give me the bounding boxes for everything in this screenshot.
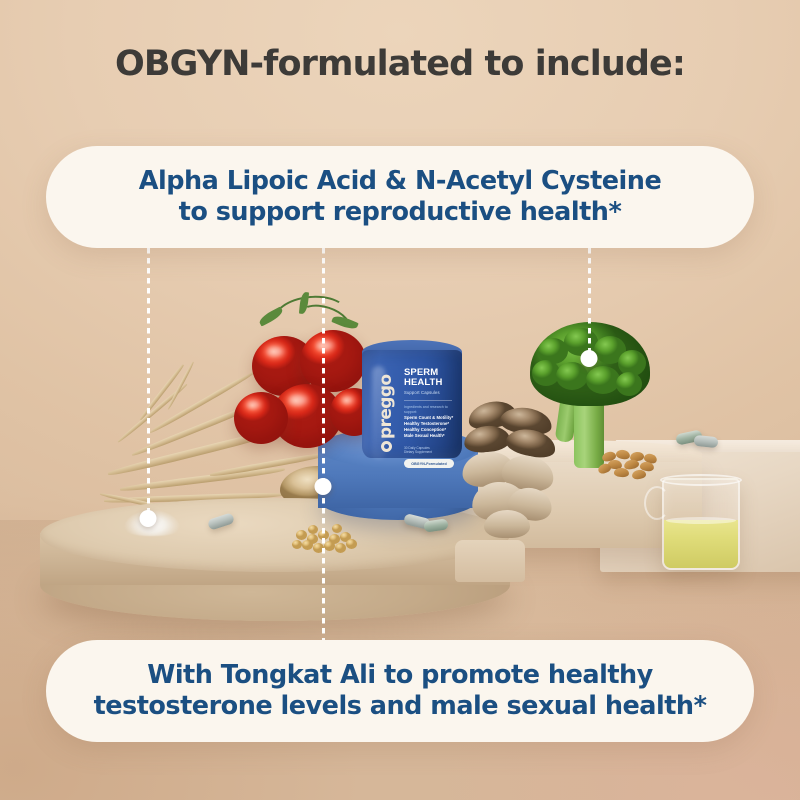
- callout-top-line2: to support reproductive health*: [139, 197, 662, 228]
- connector-dot-broccoli: [581, 350, 598, 367]
- small-pedestal: [455, 540, 525, 582]
- brand-logo: preggo: [376, 372, 396, 452]
- label-meta-line2: Dietary Supplement: [404, 450, 460, 454]
- oil-liquid: [664, 520, 738, 568]
- jar-body: preggo SPERM HEALTH Support Capsules Ing…: [362, 350, 462, 458]
- callout-top-line1: Alpha Lipoic Acid & N-Acetyl Cysteine: [139, 166, 662, 197]
- callout-card-bottom: With Tongkat Ali to promote healthy test…: [46, 640, 754, 742]
- label-benefit: Male Sexual Health*: [404, 433, 460, 439]
- label-divider: [404, 400, 452, 401]
- product-marketing-image: preggo SPERM HEALTH Support Capsules Ing…: [0, 0, 800, 800]
- brand-ring-icon: [381, 441, 392, 452]
- page-title: OBGYN-formulated to include:: [0, 44, 800, 84]
- label-title-line2: HEALTH: [404, 378, 460, 388]
- label-badge: OBGYN-Formulated: [404, 459, 454, 468]
- glass-rim: [660, 474, 742, 486]
- jar-label: SPERM HEALTH Support Capsules Ingredient…: [404, 368, 460, 468]
- label-subtitle: Support Capsules: [404, 390, 460, 395]
- callout-bottom-line2: testosterone levels and male sexual heal…: [94, 691, 707, 722]
- brand-name: preggo: [376, 375, 396, 440]
- oil-surface: [666, 517, 736, 524]
- connector-soybeans: [322, 248, 325, 640]
- callout-card-top: Alpha Lipoic Acid & N-Acetyl Cysteine to…: [46, 146, 754, 248]
- callout-bottom-line1: With Tongkat Ali to promote healthy: [94, 660, 707, 691]
- product-jar: preggo SPERM HEALTH Support Capsules Ing…: [360, 340, 464, 462]
- label-intro: Ingredients and research to support:: [404, 405, 460, 415]
- connector-broccoli: [588, 248, 591, 358]
- connector-dot-ginseng: [315, 478, 332, 495]
- oyster-mushrooms: [462, 400, 572, 550]
- label-benefit: Sperm Count & Motility*: [404, 415, 460, 421]
- connector-dot-powder: [140, 510, 157, 527]
- connector-ginseng-powder: [147, 248, 150, 516]
